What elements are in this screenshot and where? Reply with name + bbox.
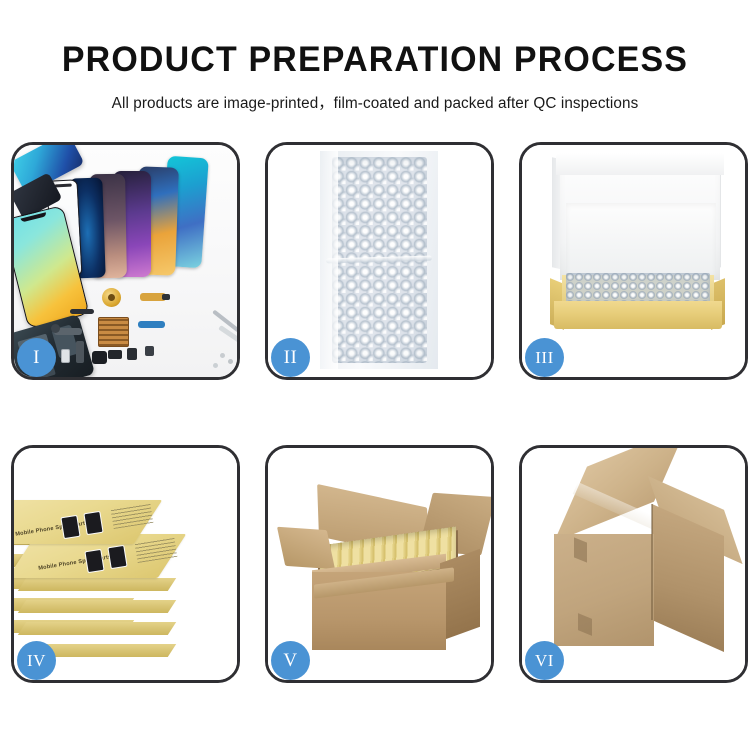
flex-cable-gold-part-icon — [140, 293, 166, 301]
ic-chip-part-icon — [108, 350, 122, 359]
box-lid-top-edge — [556, 153, 724, 175]
sim-tray-part-icon — [61, 349, 70, 363]
screw-icon — [220, 353, 225, 358]
step-badge-3: III — [525, 338, 564, 377]
step-badge-1: I — [17, 338, 56, 377]
step-panel-5: V — [265, 445, 494, 683]
screw-icon — [228, 359, 233, 364]
foam-sheet-icon — [566, 203, 716, 275]
flex-cable-grey-part-icon — [54, 328, 82, 335]
connector-part-icon — [127, 348, 137, 360]
step-panel-2: II — [265, 142, 494, 380]
box-side — [18, 600, 176, 613]
step-badge-2: II — [271, 338, 310, 377]
flex-cable-blue-part-icon — [138, 321, 165, 328]
carton-side — [440, 549, 480, 642]
step-badge-6: VI — [525, 641, 564, 680]
step-badge-5: V — [271, 641, 310, 680]
speaker-mesh-part-icon — [70, 309, 94, 314]
box-side — [18, 622, 176, 635]
camera-module-part-icon — [92, 351, 107, 364]
step-panel-6: VI — [519, 445, 748, 683]
wrap-gloss — [316, 145, 338, 375]
sealed-carton-edge — [651, 504, 653, 620]
box-artwork-swatch — [60, 515, 80, 539]
product-preparation-infographic: PRODUCT PREPARATION PROCESS All products… — [0, 0, 750, 750]
box-artwork-swatch — [84, 549, 104, 573]
copper-shield-part-icon — [98, 317, 129, 347]
steps-grid: I II — [0, 0, 750, 750]
step-panel-4: Mobile Phone Spare Parts Mobile Phone Sp… — [11, 445, 240, 683]
kraft-tray-front — [554, 301, 722, 329]
small-chip-part-icon — [145, 346, 154, 356]
power-button-part-icon — [76, 341, 84, 363]
box-artwork-swatch — [107, 545, 127, 569]
step-panel-3: III — [519, 142, 748, 380]
box-artwork-swatch — [83, 511, 103, 535]
step-panel-1: I — [11, 142, 240, 380]
carton-flap-left — [277, 527, 335, 570]
sealed-carton-front — [554, 534, 654, 646]
screw-icon — [213, 363, 218, 368]
vibration-motor-part-icon — [102, 288, 121, 307]
box-side — [18, 578, 176, 591]
step-badge-4: IV — [17, 641, 56, 680]
